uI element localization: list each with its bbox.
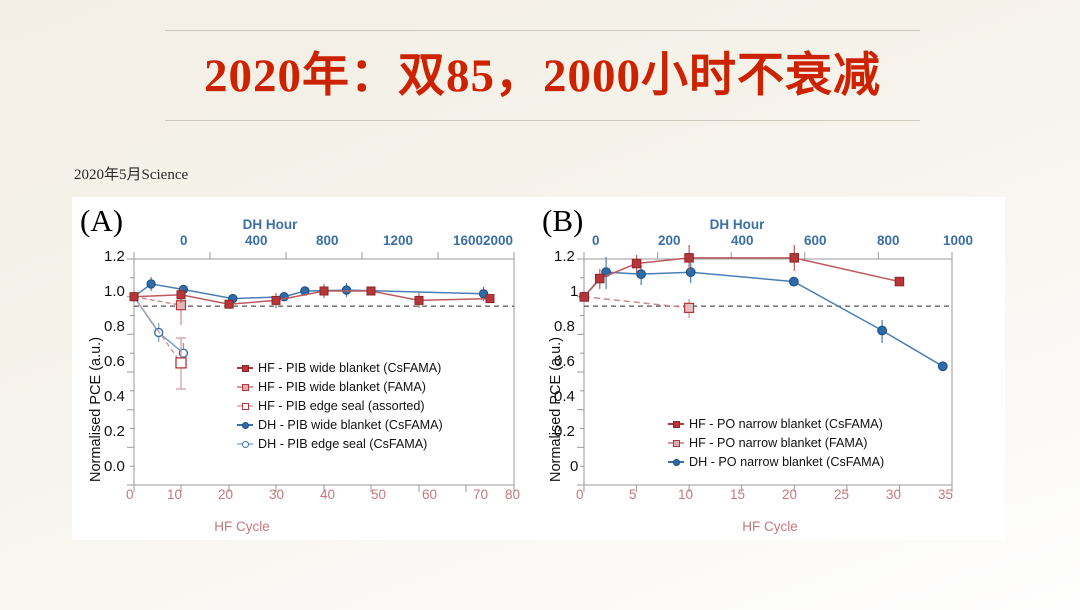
chart-a-y-tick-1_2: 1.2: [104, 248, 125, 265]
subtitle: 2020年5月Science: [74, 163, 188, 184]
chart-a-y-axis-title: Normalised PCE (a.u.): [88, 337, 104, 482]
chart-b-y-tick-0_2: 0.2: [554, 423, 575, 440]
chart-a-top-tick-1200: 1200: [383, 233, 413, 248]
chart-a-legend-item-3: DH - PIB wide blanket (CsFAMA): [234, 416, 443, 435]
chart-a-legend-label-1: HF - PIB wide blanket (FAMA): [258, 378, 426, 397]
chart-a-bottom-tick-10: 10: [167, 487, 182, 502]
title-block: 2020年：双85，2000小时不衰减: [165, 30, 920, 121]
chart-b-top-axis-title: DH Hour: [562, 217, 912, 232]
open-square-marker-icon: [234, 400, 256, 412]
chart-a-bottom-tick-30: 30: [269, 487, 284, 502]
chart-b-y-tick-1_2: 1.2: [554, 248, 575, 265]
chart-a-y-tick-1_0: 1.0: [104, 283, 125, 300]
chart-a-bottom-tick-50: 50: [371, 487, 386, 502]
chart-b-y-tick-0_6: 0.6: [554, 353, 575, 370]
chart-b-bottom-tick-10: 10: [678, 487, 693, 502]
title-rule-bottom: [165, 120, 920, 121]
page-title: 2020年：双85，2000小时不衰减: [165, 31, 920, 120]
chart-b-legend-item-0: HF - PO narrow blanket (CsFAMA): [665, 415, 884, 434]
chart-a-series-hf-edge-seal-markers: [176, 338, 186, 389]
chart-b-y-tick-0_8: 0.8: [554, 318, 575, 335]
filled-square-marker-icon: [665, 418, 687, 430]
chart-b-bottom-axis-title: HF Cycle: [710, 519, 830, 534]
chart-b-series-dh-line: [584, 272, 943, 366]
chart-a-top-tick-800: 800: [316, 233, 339, 248]
chart-b-legend-label-1: HF - PO narrow blanket (FAMA): [689, 434, 867, 453]
chart-b-bottom-tick-35: 35: [938, 487, 953, 502]
chart-a-bottom-tick-80: 80: [505, 487, 520, 502]
chart-a-bottom-tick-0: 0: [126, 487, 134, 502]
chart-a-legend-label-0: HF - PIB wide blanket (CsFAMA): [258, 359, 441, 378]
chart-a-bottom-tick-60: 60: [422, 487, 437, 502]
chart-b-y-tick-0: 0: [570, 458, 578, 475]
chart-a-top-ticks: [134, 252, 514, 259]
chart-b-bottom-tick-30: 30: [886, 487, 901, 502]
chart-b-plot: [540, 197, 1005, 540]
chart-b-legend-item-1: HF - PO narrow blanket (FAMA): [665, 434, 884, 453]
chart-a-bottom-tick-20: 20: [218, 487, 233, 502]
chart-b-y-tick-1: 1: [570, 283, 578, 300]
chart-b-top-tick-400: 400: [731, 233, 754, 248]
chart-b-legend-label-2: DH - PO narrow blanket (CsFAMA): [689, 453, 884, 472]
chart-b-bottom-tick-5: 5: [629, 487, 637, 502]
chart-a-bottom-tick-70: 70: [473, 487, 488, 502]
figure-panel: (A) DH Hour Normalised PCE (a.u.) HF Cyc…: [72, 197, 1005, 540]
chart-a-legend-item-0: HF - PIB wide blanket (CsFAMA): [234, 359, 443, 378]
chart-b-legend-label-0: HF - PO narrow blanket (CsFAMA): [689, 415, 883, 434]
chart-b-legend-item-2: DH - PO narrow blanket (CsFAMA): [665, 453, 884, 472]
chart-a-top-tick-400: 400: [245, 233, 268, 248]
chart-a-y-tick-0_8: 0.8: [104, 318, 125, 335]
chart-a-y-tick-0_0: 0.0: [104, 458, 125, 475]
chart-a-legend-item-4: DH - PIB edge seal (CsFAMA): [234, 435, 443, 454]
chart-a-legend-label-3: DH - PIB wide blanket (CsFAMA): [258, 416, 443, 435]
chart-b-top-tick-800: 800: [877, 233, 900, 248]
chart-b-top-tick-600: 600: [804, 233, 827, 248]
chart-b-top-tick-0: 0: [592, 233, 600, 248]
chart-a-legend-label-2: HF - PIB edge seal (assorted): [258, 397, 425, 416]
chart-panel-a: (A) DH Hour Normalised PCE (a.u.) HF Cyc…: [72, 197, 540, 540]
chart-b-bottom-tick-0: 0: [576, 487, 584, 502]
chart-b-legend: HF - PO narrow blanket (CsFAMA) HF - PO …: [665, 415, 884, 472]
chart-a-bottom-tick-40: 40: [320, 487, 335, 502]
chart-a-y-tick-0_2: 0.2: [104, 423, 125, 440]
chart-a-y-tick-0_4: 0.4: [104, 388, 125, 405]
chart-b-bottom-tick-25: 25: [834, 487, 849, 502]
chart-a-top-axis-title: DH Hour: [100, 217, 440, 232]
filled-square-marker-icon: [234, 362, 256, 374]
chart-a-legend-item-1: HF - PIB wide blanket (FAMA): [234, 378, 443, 397]
chart-panel-b: (B) DH Hour Normalised PCE (a.u.) HF Cyc…: [540, 197, 1005, 540]
half-square-marker-icon: [234, 381, 256, 393]
chart-b-y-tick-0_4: 0.4: [554, 388, 575, 405]
chart-a-top-tick-2000: 2000: [483, 233, 513, 248]
chart-b-bottom-tick-20: 20: [782, 487, 797, 502]
chart-a-legend-item-2: HF - PIB edge seal (assorted): [234, 397, 443, 416]
chart-a-legend: HF - PIB wide blanket (CsFAMA) HF - PIB …: [234, 359, 443, 453]
chart-a-series-hf-fama-line: [134, 297, 181, 306]
chart-b-top-tick-200: 200: [658, 233, 681, 248]
chart-b-top-tick-1000: 1000: [943, 233, 973, 248]
chart-a-bottom-axis-title: HF Cycle: [182, 519, 302, 534]
chart-b-series-hf-fama-line: [584, 297, 689, 308]
half-square-marker-icon: [665, 437, 687, 449]
chart-a-y-tick-0_6: 0.6: [104, 353, 125, 370]
chart-a-top-tick-1600: 1600: [453, 233, 483, 248]
filled-circle-marker-icon: [234, 419, 256, 431]
chart-a-top-tick-0: 0: [180, 233, 188, 248]
filled-circle-marker-icon: [665, 456, 687, 468]
chart-a-legend-label-4: DH - PIB edge seal (CsFAMA): [258, 435, 427, 454]
chart-b-bottom-tick-15: 15: [730, 487, 745, 502]
open-circle-marker-icon: [234, 438, 256, 450]
chart-b-series-hf-fama-markers: [685, 299, 694, 318]
